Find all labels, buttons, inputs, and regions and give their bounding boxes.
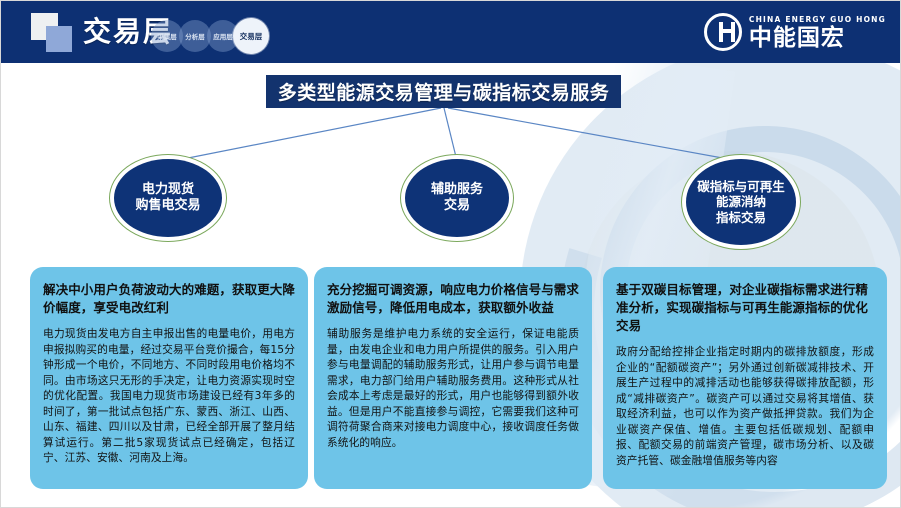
card-heading: 基于双碳目标管理，对企业碳指标需求进行精准分析，实现碳指标与可再生能源指标的优化… bbox=[616, 281, 874, 335]
brand-logo: CHINA ENERGY GUO HONG 中能国宏 bbox=[704, 10, 886, 54]
node-line: 交易 bbox=[428, 198, 486, 214]
card-heading: 解决中小用户负荷波动大的难题，获取更大降价幅度，享受电改红利 bbox=[43, 281, 295, 317]
card-body: 辅助服务是维护电力系统的安全运行，保证电能质量，由发电企业和电力用户所提供的服务… bbox=[327, 326, 579, 450]
brand-name-chinese: 中能国宏 bbox=[749, 26, 886, 50]
card-carbon-index-trading: 基于双碳目标管理，对企业碳指标需求进行精准分析，实现碳指标与可再生能源指标的优化… bbox=[603, 267, 887, 489]
node-line: 购售电交易 bbox=[132, 198, 203, 214]
node-carbon-renewable-index-trading[interactable]: 碳指标与可再生 能源消纳 指标交易 bbox=[686, 159, 796, 245]
node-line: 电力现货 bbox=[132, 182, 203, 198]
two-squares-logo-icon bbox=[31, 13, 75, 53]
node-line: 辅助服务 bbox=[428, 182, 486, 198]
node-line: 指标交易 bbox=[694, 210, 788, 226]
card-ancillary-service-trading: 充分挖掘可调资源，响应电力价格信号与需求激励信号，降低用电成本，获取额外收益 辅… bbox=[314, 267, 592, 489]
node-ancillary-service-trading[interactable]: 辅助服务 交易 bbox=[405, 159, 509, 237]
card-spot-power-trading: 解决中小用户负荷波动大的难题，获取更大降价幅度，享受电改红利 电力现货由发电方自… bbox=[30, 267, 308, 489]
node-line: 碳指标与可再生 bbox=[694, 179, 788, 195]
node-line: 能源消纳 bbox=[694, 194, 788, 210]
banner-title: 多类型能源交易管理与碳指标交易服务 bbox=[266, 75, 621, 108]
logo-stem-right bbox=[731, 22, 735, 42]
logo-square-blue bbox=[46, 26, 72, 52]
brand-text-block: CHINA ENERGY GUO HONG 中能国宏 bbox=[749, 15, 886, 50]
card-body: 政府分配给控排企业指定时期内的碳排放额度，形成企业的“配额碳资产”；另外通过创新… bbox=[616, 344, 874, 468]
brand-name-english: CHINA ENERGY GUO HONG bbox=[749, 15, 886, 24]
card-heading: 充分挖掘可调资源，响应电力价格信号与需求激励信号，降低用电成本，获取额外收益 bbox=[327, 281, 579, 317]
node-spot-power-trading[interactable]: 电力现货 购售电交易 bbox=[114, 159, 222, 237]
pill-trading-layer[interactable]: 交易层 bbox=[233, 18, 269, 54]
app-header: 交易层 采集层 分析层 应用层 交易层 CHINA ENERGY GUO HON… bbox=[1, 1, 901, 63]
card-body: 电力现货由发电方自主申报出售的电量电价，用电方申报拟购买的电量，经过交易平台竞价… bbox=[43, 326, 295, 466]
guohong-circle-logo-icon bbox=[704, 13, 742, 51]
slide-canvas: 交易层 采集层 分析层 应用层 交易层 CHINA ENERGY GUO HON… bbox=[0, 0, 901, 508]
